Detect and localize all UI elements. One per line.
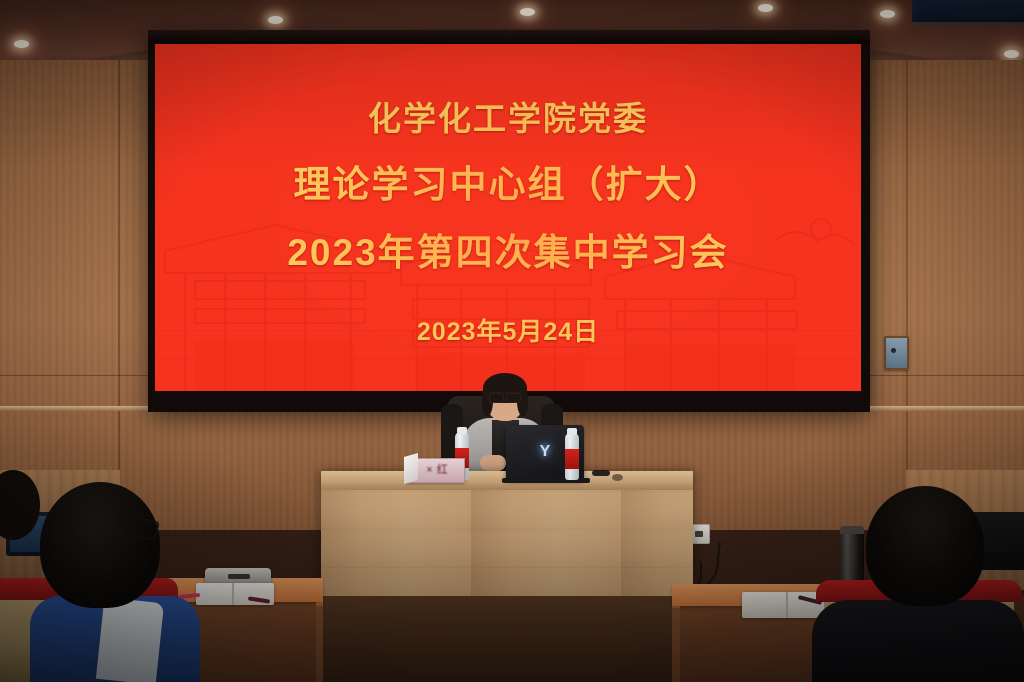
desk-small-object: [612, 474, 623, 481]
socket-slot-icon: [695, 531, 703, 537]
screen-line-3: 2023年第四次集中学习会: [287, 222, 728, 276]
thermos-bottle-cap: [840, 526, 864, 534]
notebook-left-spine: [232, 583, 234, 605]
presenter-hands: [480, 455, 506, 471]
led-presentation-screen: 化学化工学院党委 理论学习中心组（扩大） 2023年第四次集中学习会 2023年…: [155, 44, 861, 391]
screen-date-line: 2023年5月24日: [417, 312, 599, 348]
presenter-glasses-icon: [489, 392, 521, 401]
audience-person-left-head: [40, 482, 160, 608]
screen-line-1: 化学化工学院党委: [368, 92, 648, 140]
audience-person-right-shoulders: [812, 600, 1024, 682]
nameplate-stand: [404, 453, 418, 484]
wall-control-panel-indicator-icon: [891, 348, 896, 353]
audience-person-right-head: [866, 486, 984, 606]
laptop-brand-logo-icon: Y: [538, 444, 552, 461]
ceiling-downlight-icon: [758, 4, 773, 12]
ceiling-downlight-icon: [14, 40, 29, 48]
tablet-case-handle-icon: [228, 574, 250, 579]
nameplate-label: ×红: [418, 461, 460, 477]
water-bottle-left-cap: [457, 427, 467, 434]
ceiling-downlight-icon: [520, 8, 535, 16]
notebook-right-spine: [786, 592, 788, 618]
led-screen-top-bezel: [148, 30, 870, 44]
presentation-remote[interactable]: [592, 470, 610, 476]
ceiling-blue-panel: [912, 0, 1024, 23]
water-bottle-right-cap: [567, 428, 577, 435]
ceiling-downlight-icon: [268, 16, 283, 24]
screen-line-2: 理论学习中心组（扩大）: [294, 154, 723, 208]
water-bottle-right-label: [565, 449, 579, 469]
ceiling-downlight-icon: [1004, 50, 1019, 58]
conference-room-photo: 化学化工学院党委 理论学习中心组（扩大） 2023年第四次集中学习会 2023年…: [0, 0, 1024, 682]
ceiling-downlight-icon: [880, 10, 895, 18]
screen-text-block: 化学化工学院党委 理论学习中心组（扩大） 2023年第四次集中学习会 2023年…: [155, 44, 861, 391]
wall-control-panel[interactable]: [884, 336, 909, 370]
audience-person-left-collar: [96, 597, 164, 682]
